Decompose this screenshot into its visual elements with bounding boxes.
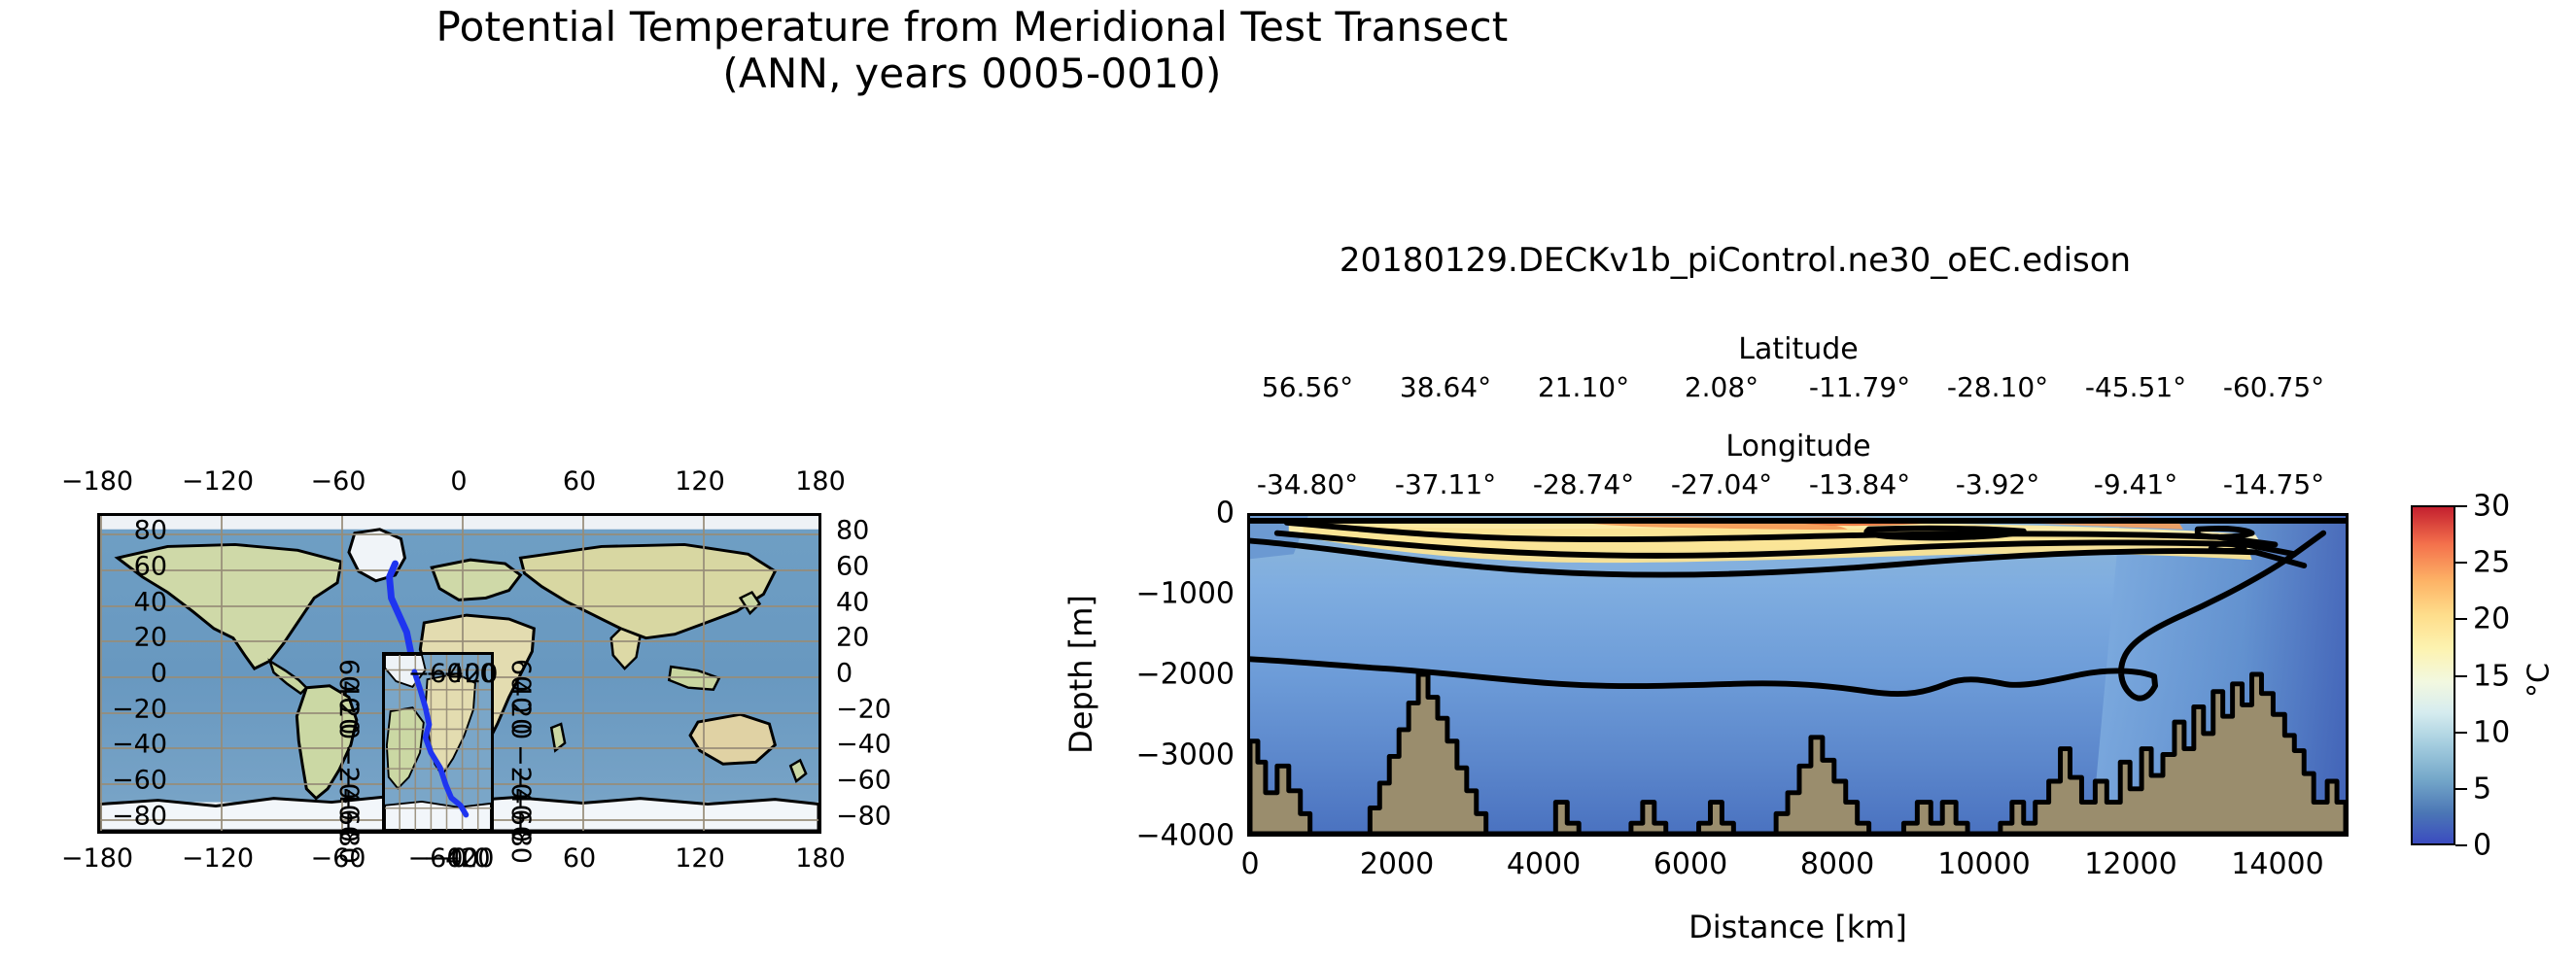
colorbar-tick-mark [2455,844,2467,846]
colorbar-tick-mark [2455,732,2467,734]
colorbar-tick-mark [2455,562,2467,564]
map-inset-ytick-right: −80 [505,808,536,864]
longitude-tick: -28.74° [1533,468,1634,500]
latitude-tick: -45.51° [2085,371,2186,403]
map-ytick-left: 20 [80,623,167,653]
y-axis-label: Depth [m] [1062,595,1099,754]
depth-tick: −4000 [1118,819,1235,853]
distance-tick: 2000 [1360,847,1434,881]
distance-tick: 10000 [1937,847,2030,881]
latitude-tick: 2.08° [1685,371,1758,403]
map-inset-ytick-left: −80 [333,808,364,864]
colorbar-tick: 0 [2473,829,2491,863]
longitude-tick: -27.04° [1671,468,1772,500]
longitude-tick: -34.80° [1257,468,1358,500]
map-inset-ytick-left: 0 [333,723,364,739]
map-ytick-right: −20 [836,695,891,725]
colorbar-tick: 10 [2473,716,2510,750]
map-ytick-left: 60 [80,552,167,582]
map-xtick-bottom: 60 [563,843,596,874]
map-ytick-right: 60 [836,552,869,582]
locator-map-panel: −180 −120 −60 0 60 120 180 −180 −120 −60… [97,513,821,834]
figure-title-line2: (ANN, years 0005-0010) [0,51,1944,97]
map-ytick-right: 0 [836,659,853,689]
map-ytick-left: 40 [80,588,167,618]
cross-section-field [1250,516,2346,834]
map-ytick-right: −40 [836,730,891,760]
map-xtick-bottom: 180 [795,843,846,874]
map-xtick-top: −120 [182,466,254,497]
distance-tick: 4000 [1507,847,1581,881]
map-ytick-right: 80 [836,516,869,546]
latitude-tick: 56.56° [1262,371,1353,403]
colorbar-label: °C [2523,663,2557,698]
latitude-tick: 21.10° [1538,371,1629,403]
depth-tick: −2000 [1118,658,1235,692]
colorbar-tick-mark [2455,505,2467,507]
map-inset-xtick-top: 0 [479,659,496,689]
longitude-tick: -14.75° [2223,468,2324,500]
map-ytick-left: −80 [80,802,167,832]
map-ytick-left: −40 [80,730,167,760]
latitude-tick: -11.79° [1809,371,1910,403]
colorbar-tick: 25 [2473,546,2510,580]
colorbar-tick: 20 [2473,602,2510,636]
map-xtick-bottom: 120 [675,843,725,874]
map-xtick-top: 180 [795,466,846,497]
colorbar-tick-mark [2455,788,2467,790]
colorbar-tick: 15 [2473,660,2510,694]
distance-tick: 8000 [1800,847,1874,881]
map-ytick-right: 40 [836,588,869,618]
latitude-axis-label: Latitude [1738,332,1858,366]
map-ytick-right: −60 [836,766,891,796]
map-ytick-right: 20 [836,623,869,653]
depth-tick: −1000 [1118,577,1235,611]
distance-tick: 14000 [2231,847,2323,881]
distance-tick: 0 [1240,847,1259,881]
latitude-tick: -60.75° [2223,371,2324,403]
potential-temperature-cross-section [1247,513,2349,837]
latitude-tick: -28.10° [1947,371,2048,403]
x-axis-label: Distance [km] [1247,909,2349,945]
map-xtick-bottom: −120 [182,843,254,874]
figure-canvas: Potential Temperature from Meridional Te… [0,0,2576,961]
map-xtick-top: 120 [675,466,725,497]
map-ytick-left: −60 [80,766,167,796]
longitude-axis-label: Longitude [1725,429,1870,463]
latitude-tick: 38.64° [1400,371,1491,403]
longitude-tick: -9.41° [2094,468,2177,500]
map-ytick-left: 0 [80,659,167,689]
run-name-title: 20180129.DECKv1b_piControl.ne30_oEC.edis… [1108,241,2362,280]
map-xtick-top: −180 [61,466,133,497]
longitude-tick: -3.92° [1956,468,2039,500]
map-xtick-bottom: −180 [61,843,133,874]
colorbar-tick: 5 [2473,772,2491,807]
map-ytick-left: −20 [80,695,167,725]
figure-title: Potential Temperature from Meridional Te… [0,4,1944,97]
map-xtick-top: 60 [563,466,596,497]
colorbar-tick-mark [2455,675,2467,677]
map-inset-ytick-right: 0 [505,723,536,739]
distance-tick: 12000 [2084,847,2176,881]
colorbar[interactable] [2411,505,2455,845]
colorbar-tick: 30 [2473,490,2510,524]
depth-tick: 0 [1118,497,1235,531]
longitude-tick: -37.11° [1395,468,1496,500]
figure-title-line1: Potential Temperature from Meridional Te… [436,3,1509,51]
colorbar-tick-mark [2455,618,2467,620]
longitude-tick: -13.84° [1809,468,1910,500]
map-ytick-right: −80 [836,802,891,832]
map-inset-xtick: 0 [473,843,490,874]
map-xtick-top: −60 [311,466,366,497]
distance-tick: 6000 [1654,847,1727,881]
map-ytick-left: 80 [80,516,167,546]
depth-tick: −3000 [1118,738,1235,772]
map-xtick-top: 0 [450,466,467,497]
